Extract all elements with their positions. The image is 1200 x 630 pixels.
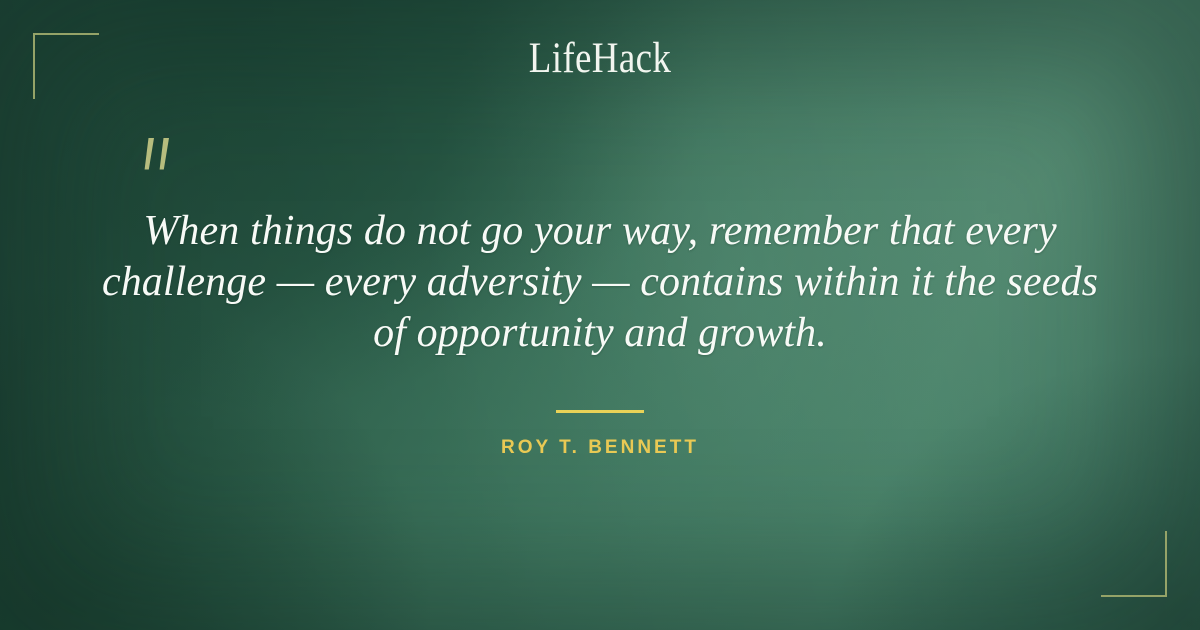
quote-author: ROY T. BENNETT xyxy=(0,437,1200,459)
quote-block: When things do not go your way, remember… xyxy=(96,206,1104,359)
quote-text: When things do not go your way, remember… xyxy=(96,206,1104,359)
brand-logo: LifeHack xyxy=(84,36,1116,82)
corner-bracket-bottom-right-icon xyxy=(1101,531,1167,597)
double-quote-icon xyxy=(132,136,188,192)
divider-rule xyxy=(556,410,644,413)
quote-card: LifeHack When things do not go your way,… xyxy=(0,0,1200,630)
